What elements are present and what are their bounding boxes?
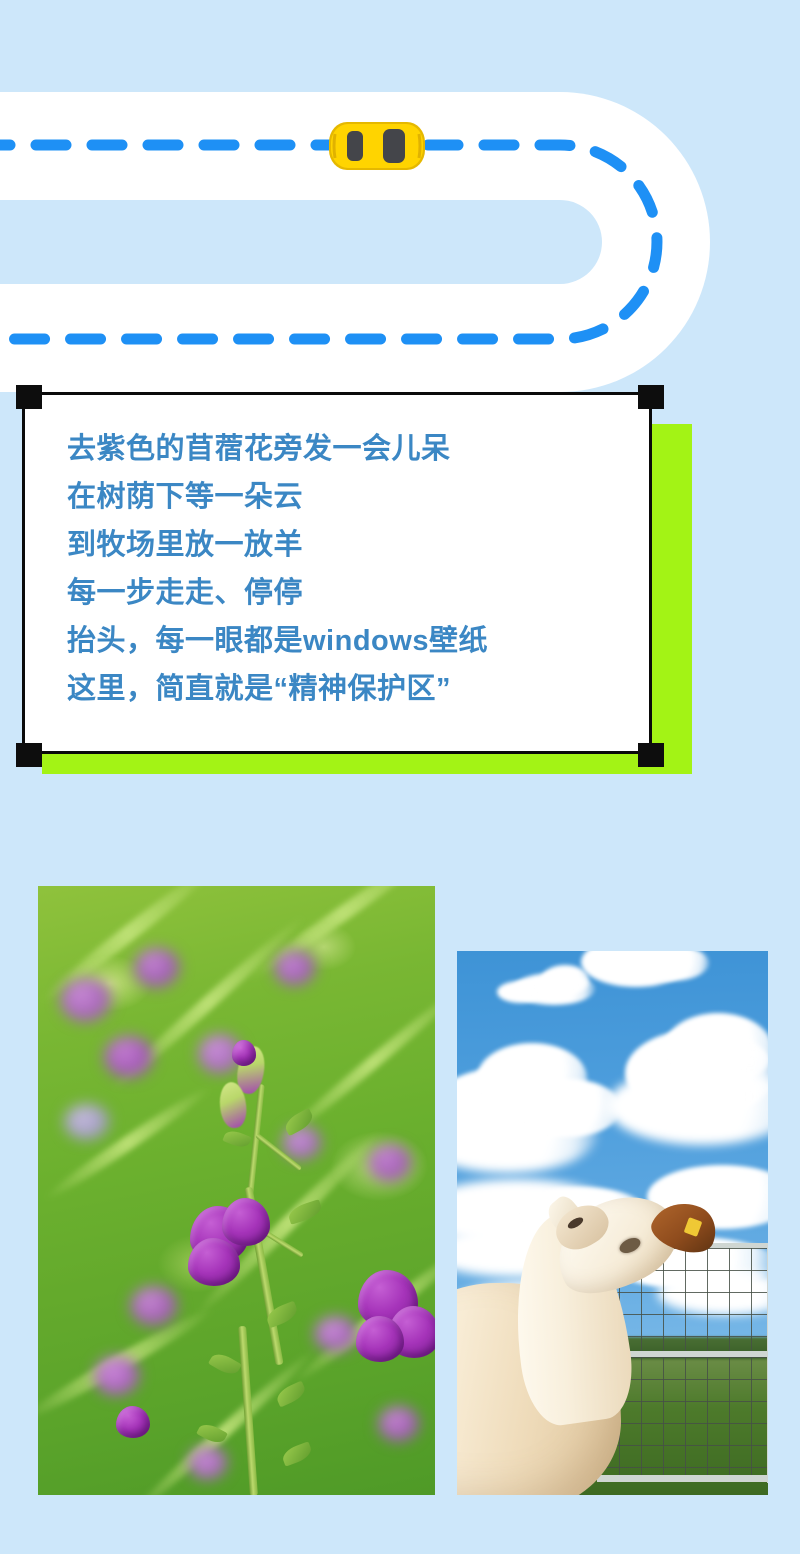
goat-photo-canvas	[457, 951, 768, 1495]
alfalfa-photo-canvas	[38, 886, 435, 1495]
card-corner-top-left	[16, 385, 42, 409]
poster-canvas: 去紫色的苜蓿花旁发一会儿呆 在树荫下等一朵云 到牧场里放一放羊 每一步走走、停停…	[0, 0, 800, 1554]
alfalfa-flower-photo	[38, 886, 435, 1495]
fence-post-right	[767, 1243, 768, 1483]
card-corner-top-right	[638, 385, 664, 409]
poem-line-3: 到牧场里放一放羊	[67, 521, 627, 569]
goat-sky-photo	[457, 951, 768, 1495]
card-body: 去紫色的苜蓿花旁发一会儿呆 在树荫下等一朵云 到牧场里放一放羊 每一步走走、停停…	[22, 392, 652, 754]
poem-text-block: 去紫色的苜蓿花旁发一会儿呆 在树荫下等一朵云 到牧场里放一放羊 每一步走走、停停…	[67, 425, 627, 713]
yellow-car-top-view	[325, 116, 429, 176]
fence-rail-bottom	[597, 1475, 768, 1482]
card-corner-bottom-left	[16, 743, 42, 767]
road-inner-gap	[0, 200, 602, 284]
poem-line-2: 在树荫下等一朵云	[67, 473, 627, 521]
card-corner-bottom-right	[638, 743, 664, 767]
poem-line-6: 这里，简直就是“精神保护区”	[67, 665, 627, 713]
poem-line-5: 抬头，每一眼都是windows壁纸	[67, 617, 627, 665]
poem-card: 去紫色的苜蓿花旁发一会儿呆 在树荫下等一朵云 到牧场里放一放羊 每一步走走、停停…	[22, 392, 678, 774]
poem-line-4: 每一步走走、停停	[67, 569, 627, 617]
poem-line-1: 去紫色的苜蓿花旁发一会儿呆	[67, 425, 627, 473]
